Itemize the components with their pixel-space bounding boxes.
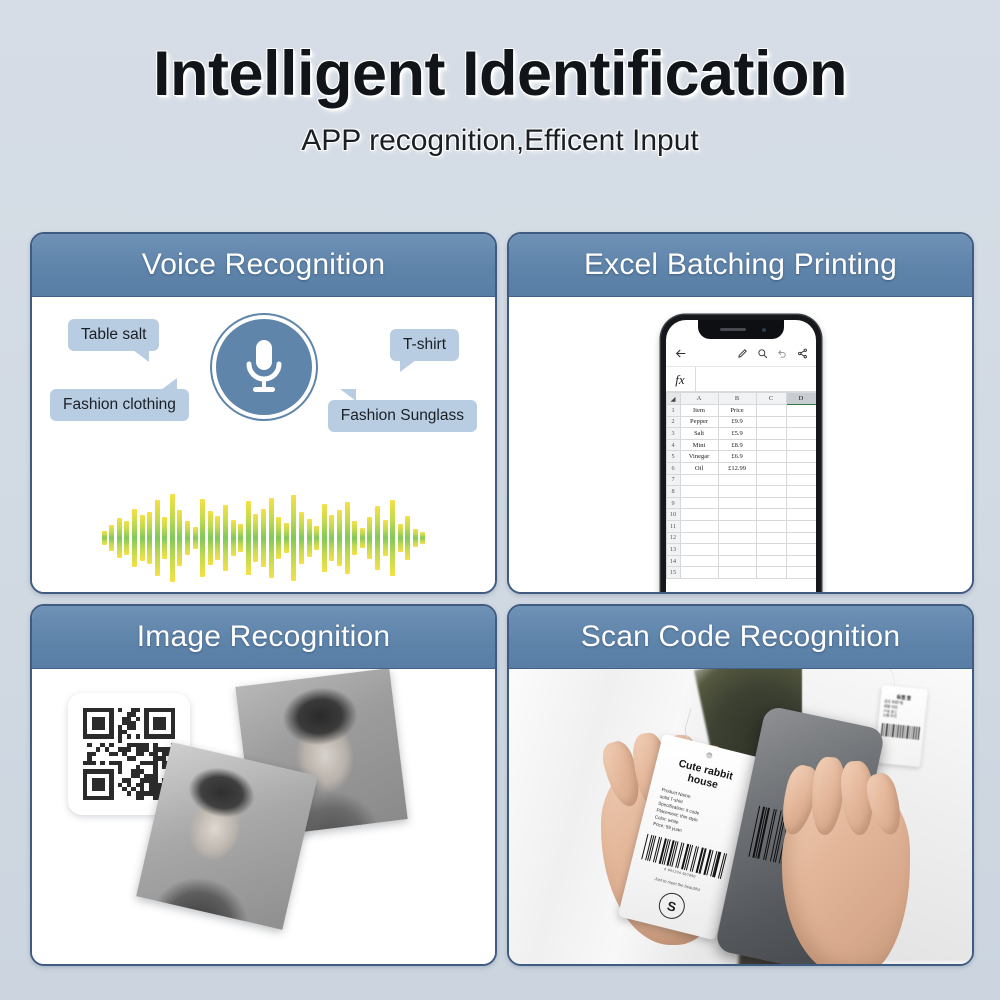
- row-number[interactable]: 15: [666, 567, 680, 579]
- promo-page: Intelligent Identification APP recogniti…: [0, 0, 1000, 1000]
- speech-bubble-tshirt: T-shirt: [390, 329, 459, 361]
- back-arrow-icon[interactable]: [674, 347, 687, 360]
- spreadsheet-row[interactable]: 15: [666, 567, 816, 579]
- cell-d[interactable]: [786, 520, 816, 532]
- column-header-b[interactable]: B: [718, 393, 756, 405]
- tag-slogan: Just to meet the beautiful: [637, 872, 718, 897]
- card-header-scan-code-recognition: Scan Code Recognition: [509, 606, 972, 669]
- waveform-bar: [162, 517, 167, 559]
- row-number[interactable]: 7: [666, 474, 680, 486]
- cell-a[interactable]: [680, 544, 718, 556]
- cell-c[interactable]: [756, 439, 786, 451]
- cell-b[interactable]: [718, 544, 756, 556]
- cell-d[interactable]: [786, 462, 816, 474]
- card-excel-batching-printing[interactable]: Excel Batching Printing ▪▪▪▪▪: [507, 232, 974, 594]
- spreadsheet-row[interactable]: 2Pepper£9.9: [666, 416, 816, 428]
- spreadsheet-row[interactable]: 5Vinegar£6.9: [666, 451, 816, 463]
- card-title: Voice Recognition: [142, 248, 386, 282]
- waveform-bar: [299, 512, 304, 564]
- speech-bubble-fashion-clothing: Fashion clothing: [50, 389, 189, 421]
- formula-bar[interactable]: fx: [666, 367, 816, 392]
- waveform-bar: [314, 526, 319, 550]
- cell-b[interactable]: £6.9: [718, 451, 756, 463]
- waveform-bar: [170, 494, 175, 582]
- waveform-bar: [367, 517, 372, 559]
- cell-c[interactable]: [756, 509, 786, 521]
- background-hang-tag: 标签 签 品名 纯棉T恤 规格 均码 产地 浙江 价格 59元: [874, 685, 928, 767]
- cell-d[interactable]: [786, 416, 816, 428]
- cell-a[interactable]: [680, 486, 718, 498]
- scan-scene-photo: 标签 签 品名 纯棉T恤 规格 均码 产地 浙江 价格 59元: [509, 669, 972, 964]
- search-icon[interactable]: [757, 348, 768, 359]
- card-header-excel-batching-printing: Excel Batching Printing: [509, 234, 972, 297]
- waveform-bar: [337, 510, 342, 566]
- row-number[interactable]: 11: [666, 520, 680, 532]
- spreadsheet-body: 1ItemPrice2Pepper£9.93Salt£5.94Mint£8.95…: [666, 405, 816, 579]
- cell-a[interactable]: [680, 509, 718, 521]
- cell-b[interactable]: [718, 532, 756, 544]
- cell-c[interactable]: [756, 532, 786, 544]
- waveform-bar: [193, 527, 198, 549]
- cell-b[interactable]: [718, 497, 756, 509]
- row-number[interactable]: 5: [666, 451, 680, 463]
- cell-d[interactable]: [786, 439, 816, 451]
- row-number[interactable]: 8: [666, 486, 680, 498]
- speech-bubble-table-salt: Table salt: [68, 319, 159, 351]
- card-title: Scan Code Recognition: [581, 620, 900, 654]
- waveform-bar: [200, 499, 205, 577]
- front-camera-icon: [762, 328, 766, 332]
- waveform-bar: [329, 515, 334, 561]
- waveform-bar: [269, 498, 274, 578]
- cell-c[interactable]: [756, 486, 786, 498]
- hand-holding-phone: [782, 781, 910, 964]
- cell-a[interactable]: [680, 520, 718, 532]
- cell-d[interactable]: [786, 497, 816, 509]
- spreadsheet-row[interactable]: 9: [666, 497, 816, 509]
- spreadsheet-row[interactable]: 10: [666, 509, 816, 521]
- waveform-bar: [253, 514, 258, 562]
- cell-d[interactable]: [786, 544, 816, 556]
- cell-a[interactable]: Salt: [680, 428, 718, 440]
- card-header-voice-recognition: Voice Recognition: [32, 234, 495, 297]
- cell-a[interactable]: Pepper: [680, 416, 718, 428]
- background-tag-lines: 品名 纯棉T恤 规格 均码 产地 浙江 价格 59元: [883, 699, 923, 722]
- waveform-bar: [322, 504, 327, 572]
- audio-waveform: [32, 483, 495, 592]
- waveform-bar: [132, 509, 137, 567]
- row-number[interactable]: 6: [666, 462, 680, 474]
- column-header-c[interactable]: C: [756, 393, 786, 405]
- page-header: Intelligent Identification APP recogniti…: [0, 40, 1000, 158]
- cell-c[interactable]: [756, 405, 786, 417]
- waveform-bar: [420, 532, 425, 544]
- waveform-bar: [307, 519, 312, 557]
- cell-c[interactable]: [756, 474, 786, 486]
- waveform-bar: [383, 520, 388, 556]
- cell-a[interactable]: [680, 555, 718, 567]
- spreadsheet-row[interactable]: 7: [666, 474, 816, 486]
- card-header-image-recognition: Image Recognition: [32, 606, 495, 669]
- card-voice-recognition[interactable]: Voice Recognition Table salt T-shirt Fas…: [30, 232, 497, 594]
- waveform-bar: [413, 529, 418, 547]
- cell-c[interactable]: [756, 428, 786, 440]
- spreadsheet-row[interactable]: 12: [666, 532, 816, 544]
- card-body-excel-batching-printing: ▪▪▪▪▪: [509, 297, 972, 592]
- spreadsheet-row[interactable]: 6Oil£12.99: [666, 462, 816, 474]
- spreadsheet-row[interactable]: 11: [666, 520, 816, 532]
- cell-b[interactable]: £9.9: [718, 416, 756, 428]
- row-number[interactable]: 1: [666, 405, 680, 417]
- card-body-voice-recognition: Table salt T-shirt Fashion clothing Fash…: [32, 297, 495, 592]
- cell-b[interactable]: £12.99: [718, 462, 756, 474]
- card-image-recognition[interactable]: Image Recognition: [30, 604, 497, 966]
- excel-app-toolbar: [666, 341, 816, 367]
- column-header-row: ◢ A B C D: [666, 393, 816, 405]
- speech-bubble-fashion-sunglass: Fashion Sunglass: [328, 400, 477, 432]
- page-subtitle: APP recognition,Efficent Input: [0, 124, 1000, 158]
- waveform-bar: [246, 501, 251, 575]
- cell-a[interactable]: Oil: [680, 462, 718, 474]
- cell-d[interactable]: [786, 532, 816, 544]
- waveform-bar: [345, 502, 350, 574]
- spreadsheet-row[interactable]: 1ItemPrice: [666, 405, 816, 417]
- microphone-icon[interactable]: [212, 315, 316, 419]
- cell-b[interactable]: [718, 520, 756, 532]
- cell-c[interactable]: [756, 520, 786, 532]
- cell-b[interactable]: [718, 474, 756, 486]
- waveform-bar: [405, 516, 410, 560]
- spreadsheet-grid[interactable]: ◢ A B C D 1ItemPrice2Pepper£9.93Salt£5.9…: [666, 392, 816, 592]
- cell-c[interactable]: [756, 462, 786, 474]
- cell-d[interactable]: [786, 509, 816, 521]
- row-number[interactable]: 9: [666, 497, 680, 509]
- select-all-corner[interactable]: ◢: [666, 393, 680, 405]
- cell-a[interactable]: [680, 567, 718, 579]
- waveform-bar: [208, 511, 213, 565]
- row-number[interactable]: 10: [666, 509, 680, 521]
- waveform-bar: [360, 528, 365, 548]
- cell-c[interactable]: [756, 544, 786, 556]
- share-icon[interactable]: [797, 348, 808, 359]
- undo-icon[interactable]: [777, 348, 788, 359]
- waveform-bar: [102, 531, 107, 545]
- spreadsheet-row[interactable]: 8: [666, 486, 816, 498]
- phone-notch: [698, 320, 784, 339]
- card-body-image-recognition: [32, 669, 495, 964]
- cell-c[interactable]: [756, 416, 786, 428]
- cell-d[interactable]: [786, 474, 816, 486]
- cell-d[interactable]: [786, 567, 816, 579]
- page-title: Intelligent Identification: [0, 40, 1000, 108]
- pen-icon[interactable]: [737, 348, 748, 359]
- spreadsheet-row[interactable]: 3Salt£5.9: [666, 428, 816, 440]
- cell-a[interactable]: [680, 532, 718, 544]
- row-number[interactable]: 3: [666, 428, 680, 440]
- background-tag-barcode: [881, 723, 920, 740]
- cell-a[interactable]: Vinegar: [680, 451, 718, 463]
- column-header-a[interactable]: A: [680, 393, 718, 405]
- waveform-bar: [276, 517, 281, 559]
- waveform-bar: [185, 521, 190, 555]
- cell-a[interactable]: Mint: [680, 439, 718, 451]
- spreadsheet-table: ◢ A B C D 1ItemPrice2Pepper£9.93Salt£5.9…: [666, 392, 816, 579]
- row-number[interactable]: 2: [666, 416, 680, 428]
- cell-a[interactable]: [680, 474, 718, 486]
- waveform-bar: [223, 505, 228, 571]
- waveform-bar: [147, 512, 152, 564]
- cell-a[interactable]: [680, 497, 718, 509]
- cell-b[interactable]: Price: [718, 405, 756, 417]
- row-number[interactable]: 12: [666, 532, 680, 544]
- cell-b[interactable]: [718, 486, 756, 498]
- cell-c[interactable]: [756, 497, 786, 509]
- cell-c[interactable]: [756, 567, 786, 579]
- cell-d[interactable]: [786, 486, 816, 498]
- microphone-glyph: [242, 338, 286, 396]
- row-number[interactable]: 4: [666, 439, 680, 451]
- waveform-bar: [124, 521, 129, 555]
- cell-b[interactable]: [718, 567, 756, 579]
- waveform-bar: [117, 518, 122, 558]
- waveform-bar: [109, 525, 114, 551]
- cell-d[interactable]: [786, 451, 816, 463]
- card-title: Image Recognition: [137, 620, 391, 654]
- waveform-bar: [390, 500, 395, 576]
- row-number[interactable]: 13: [666, 544, 680, 556]
- waveform-bar: [231, 520, 236, 556]
- waveform-bar: [291, 495, 296, 581]
- fx-icon: fx: [666, 367, 696, 391]
- cell-c[interactable]: [756, 451, 786, 463]
- phone-screen: ▪▪▪▪▪: [666, 320, 816, 592]
- cell-b[interactable]: £5.9: [718, 428, 756, 440]
- cell-d[interactable]: [786, 405, 816, 417]
- waveform-bar: [177, 510, 182, 566]
- card-body-scan-code-recognition: 标签 签 品名 纯棉T恤 规格 均码 产地 浙江 价格 59元: [509, 669, 972, 964]
- cell-a[interactable]: Item: [680, 405, 718, 417]
- waveform-bar: [155, 500, 160, 576]
- card-title: Excel Batching Printing: [584, 248, 897, 282]
- cell-c[interactable]: [756, 555, 786, 567]
- cell-d[interactable]: [786, 428, 816, 440]
- speaker-grille-icon: [720, 328, 746, 331]
- cell-b[interactable]: [718, 509, 756, 521]
- column-header-d[interactable]: D: [786, 393, 816, 405]
- cell-b[interactable]: £8.9: [718, 439, 756, 451]
- spreadsheet-row[interactable]: 4Mint£8.9: [666, 439, 816, 451]
- waveform-bar: [215, 516, 220, 560]
- waveform-bar: [284, 523, 289, 553]
- waveform-bar: [140, 515, 145, 561]
- spreadsheet-row[interactable]: 13: [666, 544, 816, 556]
- waveform-bar: [398, 524, 403, 552]
- tag-size-badge: S: [656, 890, 688, 922]
- waveform-bar: [238, 524, 243, 552]
- phone-mockup: ▪▪▪▪▪: [661, 315, 821, 592]
- feature-card-grid: Voice Recognition Table salt T-shirt Fas…: [30, 232, 974, 970]
- tag-hole: [706, 752, 713, 759]
- card-scan-code-recognition[interactable]: Scan Code Recognition 标签 签 品名 纯棉T恤 规格 均码: [507, 604, 974, 966]
- waveform-bar: [261, 509, 266, 567]
- cell-d[interactable]: [786, 555, 816, 567]
- spreadsheet-row[interactable]: 14: [666, 555, 816, 567]
- cell-b[interactable]: [718, 555, 756, 567]
- waveform-bar: [375, 506, 380, 570]
- row-number[interactable]: 14: [666, 555, 680, 567]
- waveform-bar: [352, 521, 357, 555]
